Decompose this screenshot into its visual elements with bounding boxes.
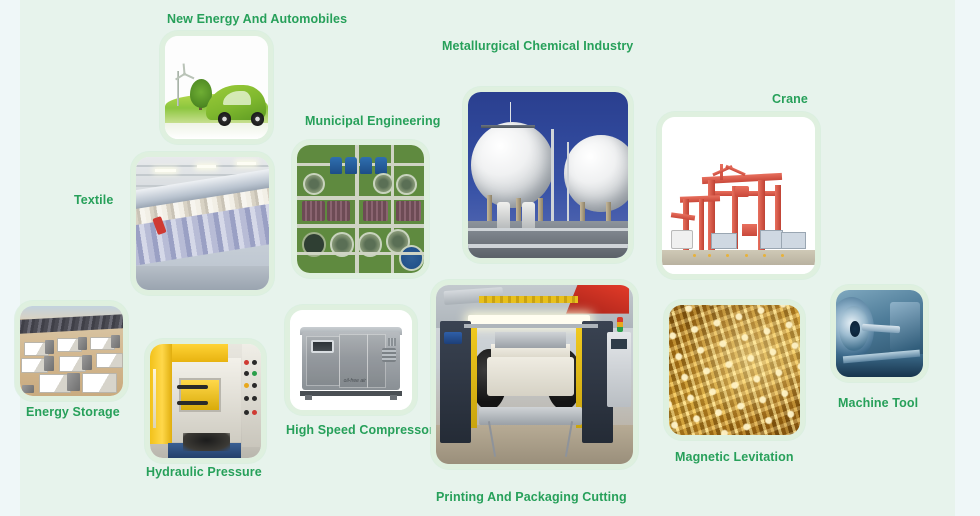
label-printing-and-packaging-cutting: Printing And Packaging Cutting — [436, 491, 627, 504]
card-printing-and-packaging-cutting[interactable] — [431, 280, 638, 469]
image-printing-and-packaging-cutting — [436, 285, 633, 464]
label-new-energy-and-automobiles: New Energy And Automobiles — [167, 13, 347, 26]
image-energy-storage — [20, 306, 123, 396]
card-magnetic-levitation[interactable] — [664, 300, 805, 440]
card-metallurgical-chemical-industry[interactable] — [463, 87, 633, 263]
card-machine-tool[interactable] — [831, 285, 928, 382]
label-metallurgical-chemical-industry: Metallurgical Chemical Industry — [442, 40, 633, 53]
image-new-energy-and-automobiles — [165, 36, 268, 139]
card-energy-storage[interactable] — [15, 301, 128, 401]
image-metallurgical-chemical-industry — [468, 92, 628, 258]
label-textile: Textile — [74, 194, 113, 207]
card-new-energy-and-automobiles[interactable] — [160, 31, 273, 144]
label-energy-storage: Energy Storage — [26, 406, 120, 419]
image-magnetic-levitation — [669, 305, 800, 435]
application-collage: New Energy And Automobiles Metallurgical… — [0, 0, 980, 516]
label-machine-tool: Machine Tool — [838, 397, 918, 410]
label-crane: Crane — [772, 93, 808, 106]
card-textile[interactable] — [131, 152, 274, 295]
card-municipal-engineering[interactable] — [292, 140, 429, 278]
card-crane[interactable] — [657, 112, 820, 279]
image-textile — [136, 157, 269, 290]
compressor-badge: oil-free air — [344, 378, 366, 384]
label-municipal-engineering: Municipal Engineering — [305, 115, 440, 128]
image-crane — [662, 117, 815, 274]
card-hydraulic-pressure[interactable] — [145, 339, 266, 463]
label-high-speed-compressor: High Speed Compressor — [286, 424, 434, 437]
image-machine-tool — [836, 290, 923, 377]
image-municipal-engineering — [297, 145, 424, 273]
label-hydraulic-pressure: Hydraulic Pressure — [146, 466, 262, 479]
card-high-speed-compressor[interactable]: oil-free air — [285, 305, 417, 415]
image-hydraulic-pressure — [150, 344, 261, 458]
image-high-speed-compressor: oil-free air — [290, 310, 412, 410]
label-magnetic-levitation: Magnetic Levitation — [675, 451, 794, 464]
